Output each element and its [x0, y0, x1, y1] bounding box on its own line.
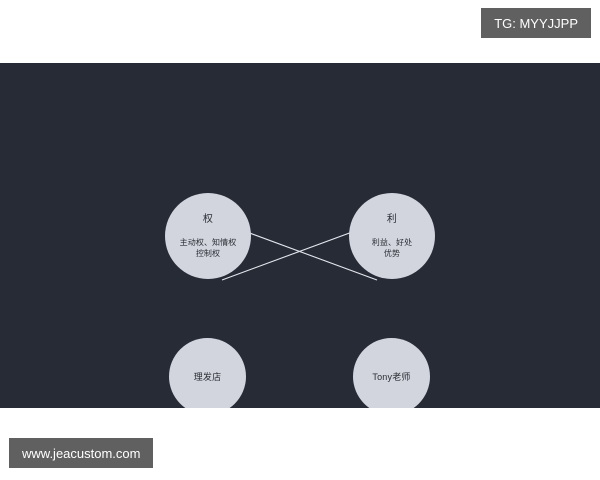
diagram-panel: 权 主动权、知情权 控制权 利 利益、好处 优势 理发店 Tony老师 — [0, 63, 600, 408]
node-barbershop[interactable]: 理发店 — [169, 338, 246, 408]
node-barbershop-label: 理发店 — [194, 371, 222, 383]
site-watermark-text: www.jeacustom.com — [22, 447, 140, 460]
node-tony[interactable]: Tony老师 — [353, 338, 430, 408]
node-power-subtitle: 主动权、知情权 控制权 — [180, 237, 237, 259]
node-power-title: 权 — [203, 213, 213, 226]
telegram-watermark-badge: TG: MYYJJPP — [481, 8, 591, 38]
node-power[interactable]: 权 主动权、知情权 控制权 — [165, 193, 251, 279]
site-watermark-badge: www.jeacustom.com — [9, 438, 153, 468]
node-tony-label: Tony老师 — [372, 371, 410, 383]
telegram-watermark-text: TG: MYYJJPP — [494, 17, 578, 30]
node-benefit-subtitle: 利益、好处 优势 — [372, 237, 413, 259]
node-benefit-title: 利 — [387, 213, 397, 226]
arrow-layer — [0, 63, 600, 408]
node-benefit[interactable]: 利 利益、好处 优势 — [349, 193, 435, 279]
diagram-stage: 权 主动权、知情权 控制权 利 利益、好处 优势 理发店 Tony老师 TG: … — [0, 0, 600, 480]
